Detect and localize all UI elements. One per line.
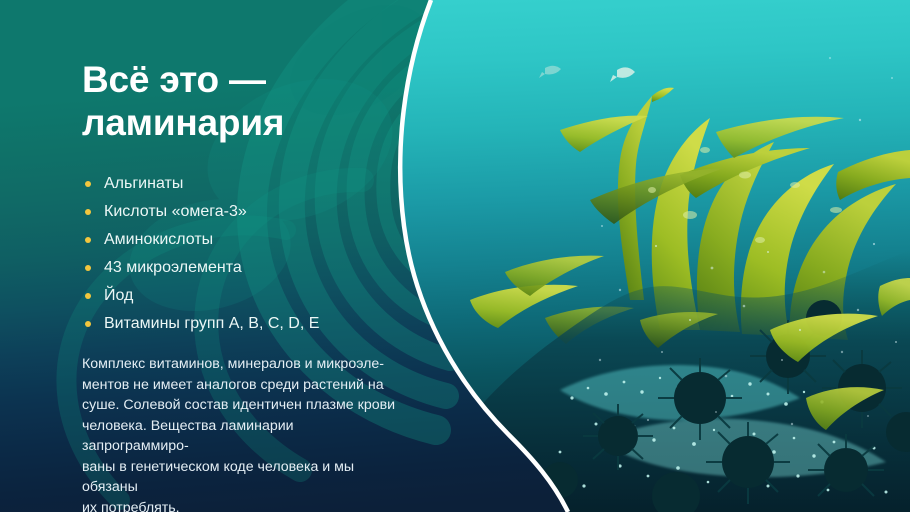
description-paragraph: Комплекс витаминов, минералов и микроэле…	[82, 354, 400, 512]
bullet-dot-icon	[85, 181, 91, 187]
list-item-label: Аминокислоты	[104, 231, 213, 248]
text-content: Всё это — ламинария Альгинаты Кислоты «о…	[82, 0, 422, 512]
list-item-label: Йод	[104, 287, 133, 304]
list-item-label: Кислоты «омега-3»	[104, 203, 247, 220]
slide-canvas: Всё это — ламинария Альгинаты Кислоты «о…	[0, 0, 910, 512]
list-item-label: Витамины групп A, B, C, D, E	[104, 315, 319, 332]
bullet-dot-icon	[85, 321, 91, 327]
list-item: Альгинаты	[82, 174, 319, 193]
bullet-dot-icon	[85, 265, 91, 271]
list-item-label: 43 микроэлемента	[104, 259, 242, 276]
benefits-list: Альгинаты Кислоты «омега-3» Аминокислоты…	[82, 174, 319, 342]
bullet-dot-icon	[85, 293, 91, 299]
list-item: Кислоты «омега-3»	[82, 202, 319, 221]
bullet-dot-icon	[85, 209, 91, 215]
bullet-dot-icon	[85, 237, 91, 243]
list-item: Витамины групп A, B, C, D, E	[82, 314, 319, 333]
page-title: Всё это — ламинария	[82, 58, 412, 144]
list-item: 43 микроэлемента	[82, 258, 319, 277]
list-item: Йод	[82, 286, 319, 305]
list-item-label: Альгинаты	[104, 175, 183, 192]
list-item: Аминокислоты	[82, 230, 319, 249]
fish-silhouette	[539, 66, 561, 78]
